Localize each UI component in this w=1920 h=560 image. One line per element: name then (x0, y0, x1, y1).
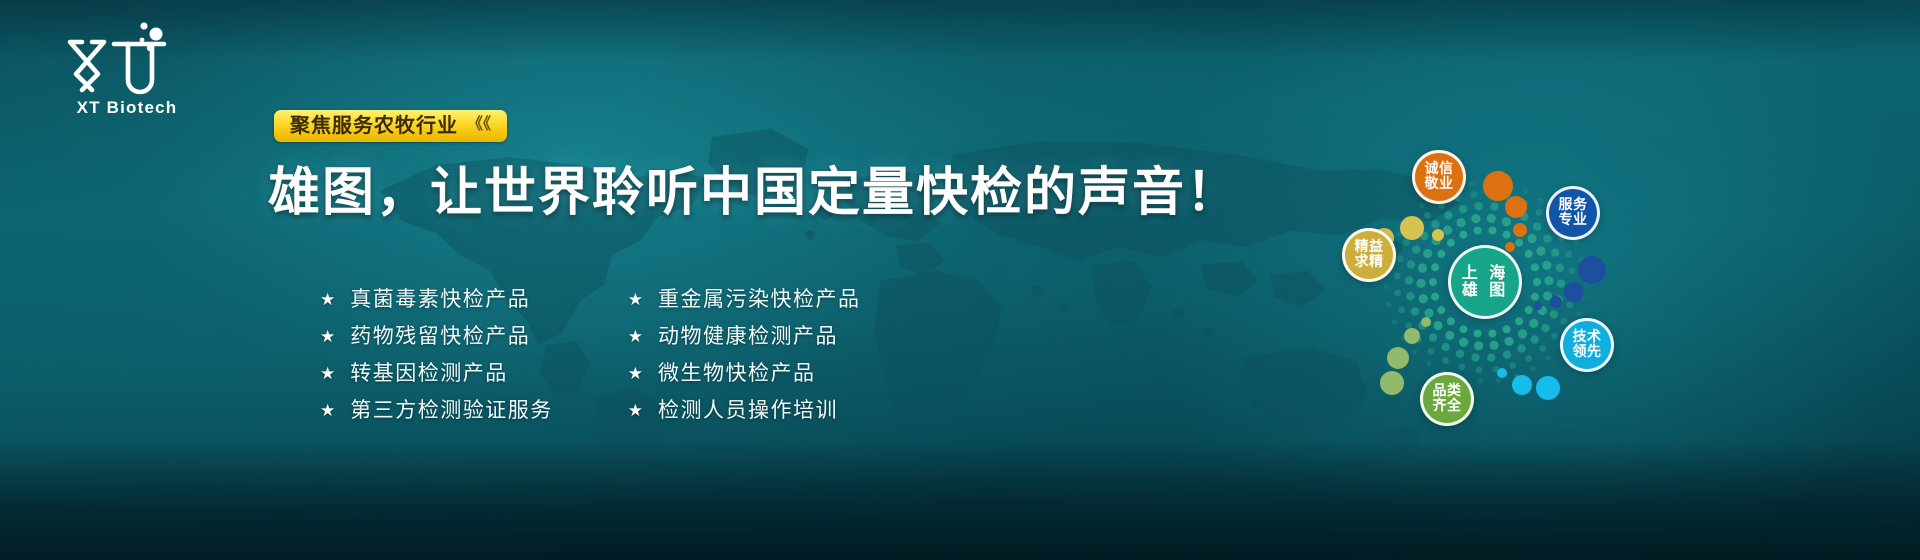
list-item-label: 动物健康检测产品 (658, 325, 838, 348)
brand-name: XT Biotech (52, 98, 202, 118)
list-item[interactable]: ★ 转基因检测产品 (320, 362, 553, 385)
list-item-label: 检测人员操作培训 (658, 399, 838, 422)
list-item-label: 真菌毒素快检产品 (350, 288, 530, 311)
focus-badge[interactable]: 聚焦服务农牧行业 《《 (274, 110, 507, 142)
star-icon: ★ (628, 291, 643, 308)
list-item-label: 转基因检测产品 (350, 362, 508, 385)
cluster-node-label-line1: 服务 (1559, 198, 1588, 213)
star-icon: ★ (628, 328, 643, 345)
product-list: ★ 真菌毒素快检产品 ★ 药物残留快检产品 ★ 转基因检测产品 ★ 第三方检测验… (320, 288, 861, 422)
values-cluster: 上 海 雄 图 诚信 敬业 服务 专业 精益 求精 技术 领先 品类 齐全 (1320, 140, 1650, 440)
list-item[interactable]: ★ 重金属污染快检产品 (628, 288, 861, 311)
cluster-node-label-line2: 领先 (1573, 345, 1602, 360)
product-list-left-column: ★ 真菌毒素快检产品 ★ 药物残留快检产品 ★ 转基因检测产品 ★ 第三方检测验… (320, 288, 553, 422)
cluster-node-label-line2: 敬业 (1425, 177, 1454, 192)
cluster-node-label-line1: 诚信 (1425, 162, 1454, 177)
cluster-node-excellence[interactable]: 精益 求精 (1342, 228, 1396, 282)
list-item-label: 微生物快检产品 (658, 362, 816, 385)
cluster-node-label-line1: 技术 (1573, 330, 1602, 345)
star-icon: ★ (320, 365, 335, 382)
star-icon: ★ (320, 328, 335, 345)
list-item[interactable]: ★ 药物残留快检产品 (320, 325, 553, 348)
brand-logo[interactable]: XT Biotech (52, 18, 202, 118)
xt-flask-logo-icon (52, 18, 202, 96)
list-item[interactable]: ★ 动物健康检测产品 (628, 325, 861, 348)
cluster-node-label-line2: 求精 (1355, 255, 1384, 270)
list-item-label: 药物残留快检产品 (350, 325, 530, 348)
cluster-node-catalog[interactable]: 品类 齐全 (1420, 372, 1474, 426)
page-title: 雄图，让世界聆听中国定量快检的声音！ (268, 150, 1240, 225)
cluster-node-label-line2: 齐全 (1433, 399, 1462, 414)
list-item[interactable]: ★ 真菌毒素快检产品 (320, 288, 553, 311)
list-item[interactable]: ★ 第三方检测验证服务 (320, 399, 553, 422)
cluster-center-label-line2: 雄 图 (1462, 282, 1509, 299)
star-icon: ★ (628, 402, 643, 419)
cluster-node-integrity[interactable]: 诚信 敬业 (1412, 150, 1466, 204)
list-item[interactable]: ★ 检测人员操作培训 (628, 399, 861, 422)
cluster-center-node[interactable]: 上 海 雄 图 (1448, 245, 1522, 319)
star-icon: ★ (320, 291, 335, 308)
chevron-double-left-icon: 《《 (467, 117, 491, 133)
focus-badge-label: 聚焦服务农牧行业 (290, 115, 458, 135)
cluster-node-service[interactable]: 服务 专业 (1546, 186, 1600, 240)
star-icon: ★ (320, 402, 335, 419)
promo-banner: XT Biotech 聚焦服务农牧行业 《《 雄图，让世界聆听中国定量快检的声音… (0, 0, 1920, 560)
cluster-node-label-line1: 品类 (1433, 384, 1462, 399)
cluster-node-label-line1: 精益 (1355, 240, 1384, 255)
star-icon: ★ (628, 365, 643, 382)
product-list-right-column: ★ 重金属污染快检产品 ★ 动物健康检测产品 ★ 微生物快检产品 ★ 检测人员操… (628, 288, 861, 422)
cluster-node-label-line2: 专业 (1559, 213, 1588, 228)
list-item-label: 重金属污染快检产品 (658, 288, 861, 311)
cluster-node-technology[interactable]: 技术 领先 (1560, 318, 1614, 372)
list-item-label: 第三方检测验证服务 (350, 399, 553, 422)
list-item[interactable]: ★ 微生物快检产品 (628, 362, 861, 385)
